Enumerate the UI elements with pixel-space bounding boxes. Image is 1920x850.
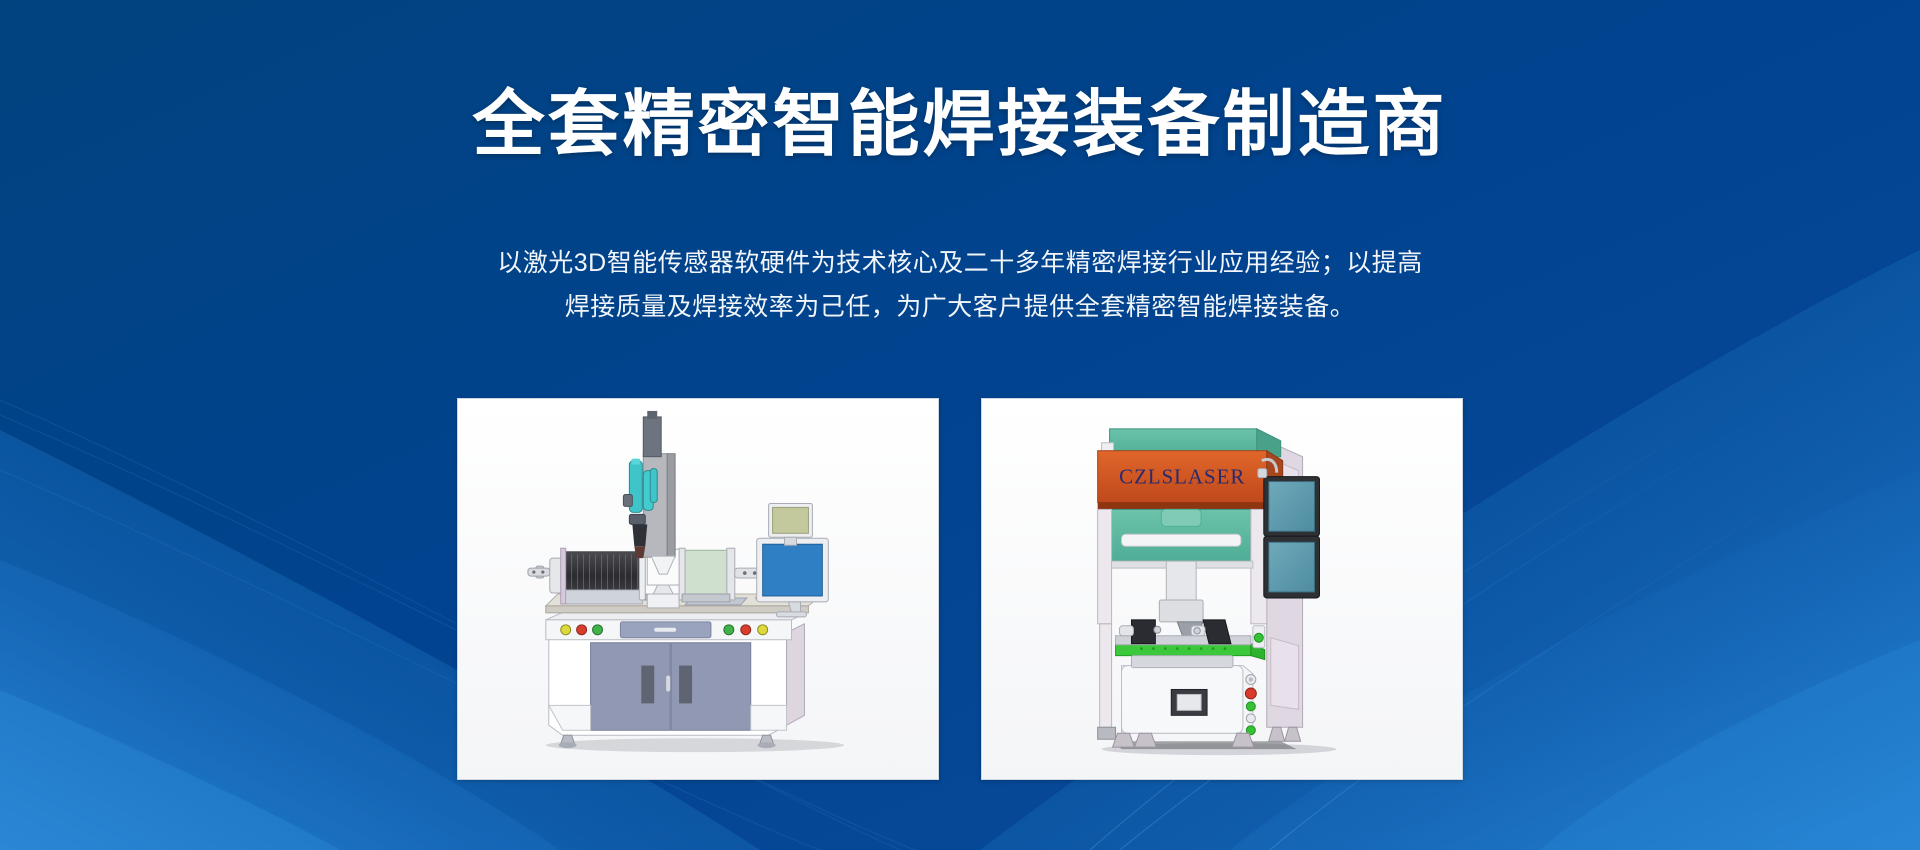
product-card-laser-welding-cell[interactable]: CZLSLASER (981, 398, 1463, 780)
welding-workstation-illustration (458, 399, 938, 779)
product-card-welding-workstation[interactable] (457, 398, 939, 780)
hero-banner: 全套精密智能焊接装备制造商 以激光3D智能传感器软硬件为技术核心及二十多年精密焊… (0, 0, 1920, 850)
hero-subheadline: 以激光3D智能传感器软硬件为技术核心及二十多年精密焊接行业应用经验；以提高 焊接… (360, 242, 1560, 330)
laser-welding-cell-illustration: CZLSLASER (982, 399, 1462, 779)
machine-brand-label: CZLSLASER (1119, 465, 1245, 489)
product-image-gallery: CZLSLASER (0, 398, 1920, 788)
hero-subheadline-line-2: 焊接质量及焊接效率为己任，为广大客户提供全套精密智能焊接装备。 (360, 286, 1560, 330)
hero-subheadline-line-1: 以激光3D智能传感器软硬件为技术核心及二十多年精密焊接行业应用经验；以提高 (360, 242, 1560, 286)
page-title: 全套精密智能焊接装备制造商 (0, 88, 1920, 164)
